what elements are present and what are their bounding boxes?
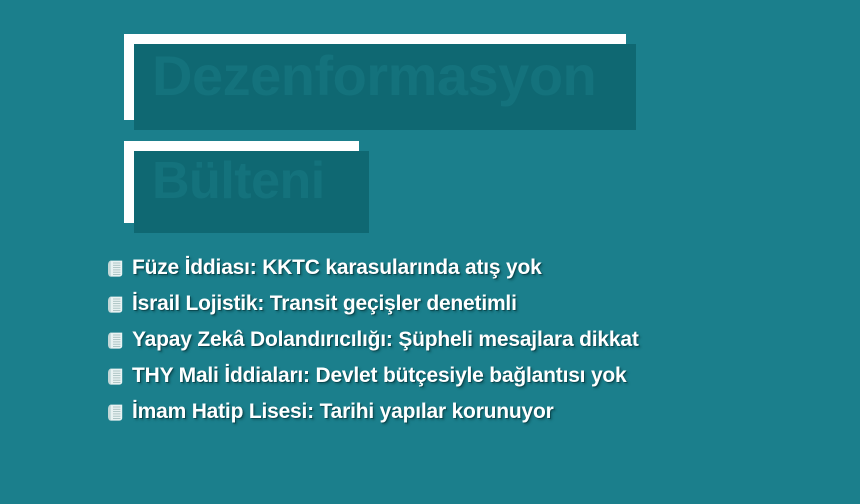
title-block: Dezenformasyon Bülteni (124, 34, 626, 244)
list-item: Füze İddiası: KKTC karasularında atış yo… (104, 250, 844, 286)
rolled-up-newspaper-icon (104, 364, 128, 388)
list-item: İmam Hatip Lisesi: Tarihi yapılar korunu… (104, 394, 844, 430)
rolled-up-newspaper-icon (104, 256, 128, 280)
title-card-line-2: Bülteni (124, 141, 359, 223)
rolled-up-newspaper-icon (104, 292, 128, 316)
rolled-up-newspaper-icon (104, 400, 128, 424)
headline-label: İsrail Lojistik: Transit geçişler deneti… (132, 291, 517, 317)
list-item: İsrail Lojistik: Transit geçişler deneti… (104, 286, 844, 322)
page-title-line-1: Dezenformasyon (152, 46, 596, 106)
headline-label: Yapay Zekâ Dolandırıcılığı: Şüpheli mesa… (132, 327, 639, 353)
title-card-line-1: Dezenformasyon (124, 34, 626, 120)
headline-label: Füze İddiası: KKTC karasularında atış yo… (132, 255, 542, 281)
bulletin-slide: Dezenformasyon Bülteni (0, 0, 860, 504)
page-title-line-2: Bülteni (152, 153, 325, 209)
headline-label: İmam Hatip Lisesi: Tarihi yapılar korunu… (132, 399, 554, 425)
headline-label: THY Mali İddiaları: Devlet bütçesiyle ba… (132, 363, 627, 389)
rolled-up-newspaper-icon (104, 328, 128, 352)
list-item: THY Mali İddiaları: Devlet bütçesiyle ba… (104, 358, 844, 394)
headline-list: Füze İddiası: KKTC karasularında atış yo… (104, 250, 844, 430)
list-item: Yapay Zekâ Dolandırıcılığı: Şüpheli mesa… (104, 322, 844, 358)
